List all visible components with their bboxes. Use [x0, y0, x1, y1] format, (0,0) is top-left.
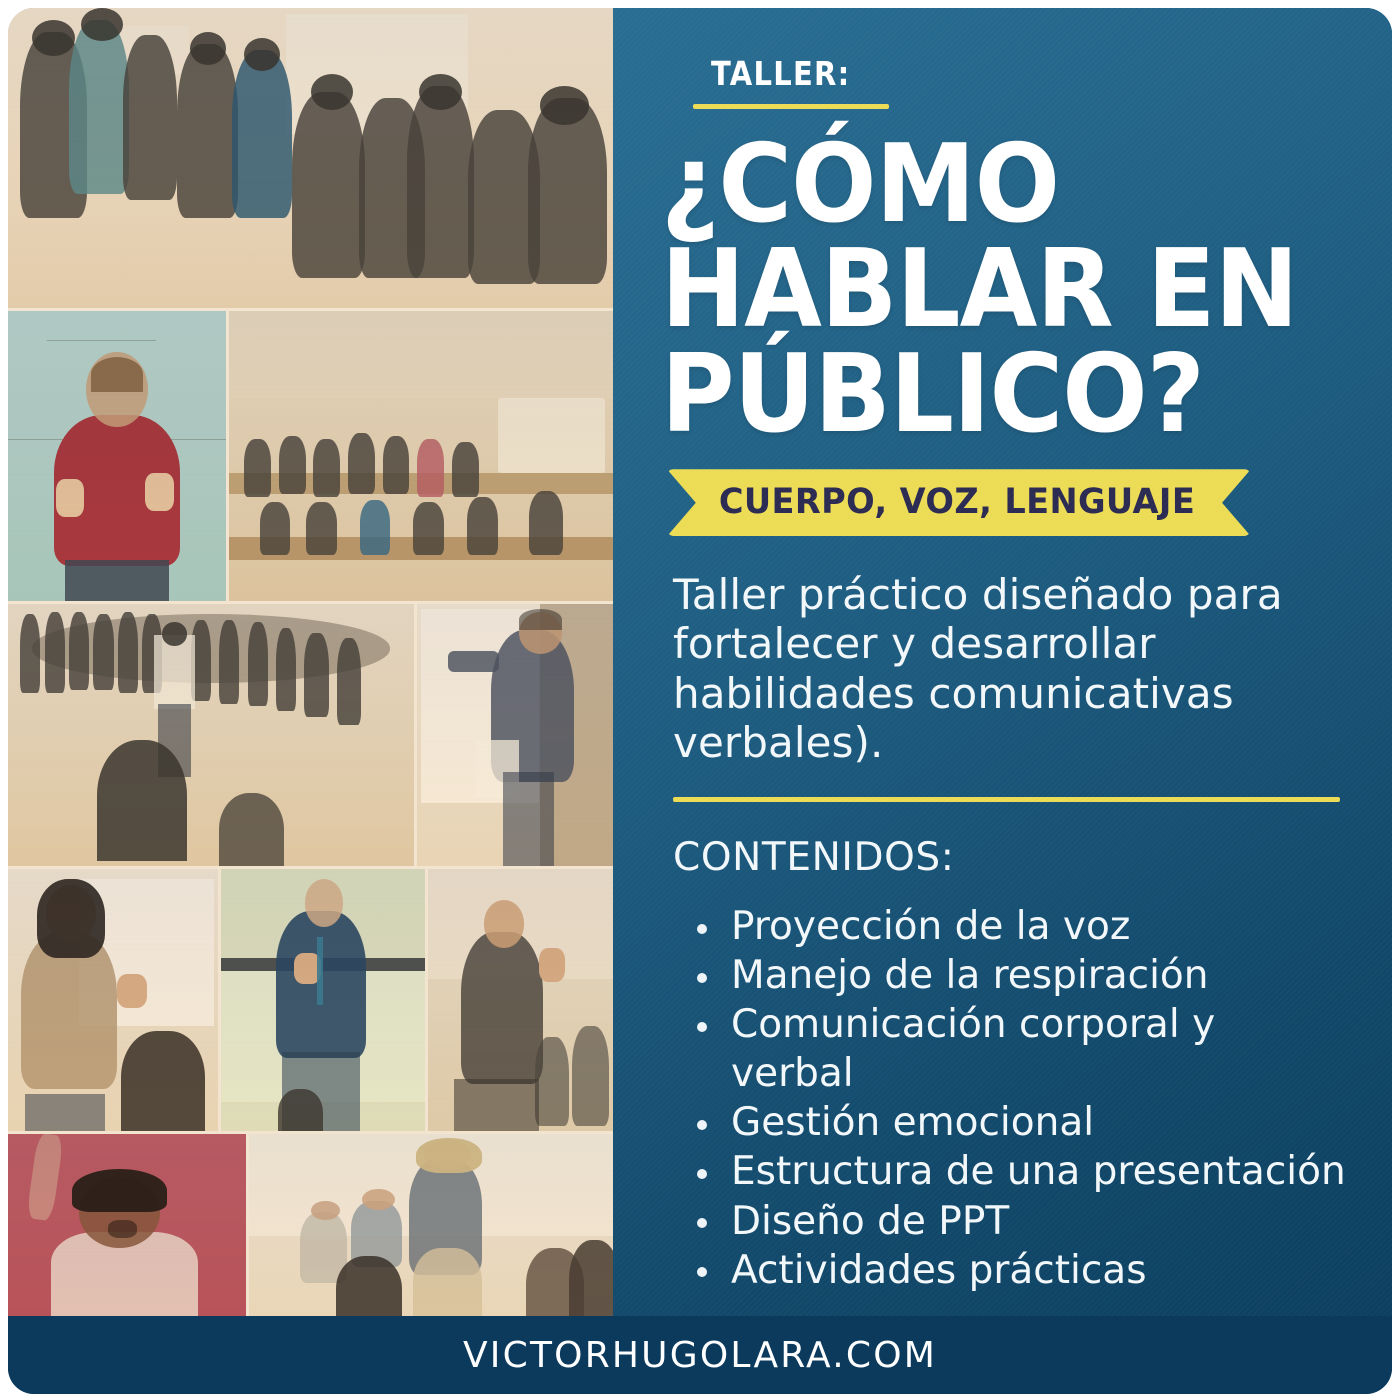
footer-bar: VICTORHUGOLARA.COM: [8, 1316, 1392, 1394]
photo-workshop-activity: [8, 8, 613, 308]
bullet-dot-icon: [697, 1169, 707, 1179]
eyebrow-underline: [693, 104, 889, 109]
list-item: Diseño de PPT: [691, 1197, 1348, 1246]
list-item-label: Actividades prácticas: [731, 1248, 1147, 1293]
bullet-dot-icon: [697, 1267, 707, 1277]
photo-whiteboard-speaker: [417, 604, 613, 866]
poster-body: TALLER: ¿CÓMO HABLAR EN PÚBLICO? CUERPO,…: [8, 8, 1392, 1330]
collage-row-2: [8, 311, 613, 601]
list-item-label: Diseño de PPT: [731, 1199, 1009, 1244]
list-item: Actividades prácticas: [691, 1246, 1348, 1295]
collage-row-5: [8, 1134, 613, 1330]
title-line-2: HABLAR EN: [661, 238, 1300, 343]
list-item: Manejo de la respiración: [691, 951, 1348, 1000]
list-item: Proyección de la voz: [691, 902, 1348, 951]
bullet-dot-icon: [697, 973, 707, 983]
list-item-label: Comunicación corporal y verbal: [731, 1002, 1215, 1096]
bullet-dot-icon: [697, 924, 707, 934]
photo-woman-presenting: [8, 869, 218, 1131]
title-line-3: PÚBLICO?: [661, 343, 1300, 448]
contents-list: Proyección de la voz Manejo de la respir…: [691, 902, 1348, 1295]
photo-collage: [8, 8, 613, 1330]
subtitle-ribbon: CUERPO, VOZ, LENGUAJE: [667, 469, 1251, 536]
photo-students-circle: [8, 604, 414, 866]
list-item: Comunicación corporal y verbal: [691, 1000, 1348, 1098]
page-title: ¿CÓMO HABLAR EN PÚBLICO?: [661, 133, 1300, 447]
list-item: Estructura de una presentación: [691, 1147, 1348, 1196]
collage-row-4: [8, 869, 613, 1131]
photo-auditorium-audience: [229, 311, 613, 601]
list-item-label: Manejo de la respiración: [731, 953, 1209, 998]
list-item-label: Estructura de una presentación: [731, 1149, 1346, 1194]
description-text: Taller práctico diseñado para fortalecer…: [673, 570, 1333, 767]
contents-heading: CONTENIDOS:: [673, 835, 1348, 880]
section-divider: [673, 797, 1340, 802]
website-label: VICTORHUGOLARA.COM: [463, 1335, 937, 1376]
bullet-dot-icon: [697, 1120, 707, 1130]
list-item-label: Proyección de la voz: [731, 904, 1130, 949]
bullet-dot-icon: [697, 1218, 707, 1228]
poster: TALLER: ¿CÓMO HABLAR EN PÚBLICO? CUERPO,…: [0, 0, 1400, 1400]
photo-man-cheering-red: [8, 1134, 246, 1330]
eyebrow-label: TALLER:: [711, 54, 1272, 93]
list-item-label: Gestión emocional: [731, 1100, 1094, 1145]
photo-woman-group-talk: [249, 1134, 613, 1330]
title-line-1: ¿CÓMO: [661, 133, 1300, 238]
photo-senior-microphone: [221, 869, 425, 1131]
info-panel: TALLER: ¿CÓMO HABLAR EN PÚBLICO? CUERPO,…: [613, 8, 1392, 1330]
photo-man-red-sweater: [8, 311, 226, 601]
poster-frame: TALLER: ¿CÓMO HABLAR EN PÚBLICO? CUERPO,…: [8, 8, 1392, 1394]
bullet-dot-icon: [697, 1022, 707, 1032]
photo-man-gesturing: [428, 869, 613, 1131]
collage-row-3: [8, 604, 613, 866]
list-item: Gestión emocional: [691, 1098, 1348, 1147]
collage-row-1: [8, 8, 613, 308]
